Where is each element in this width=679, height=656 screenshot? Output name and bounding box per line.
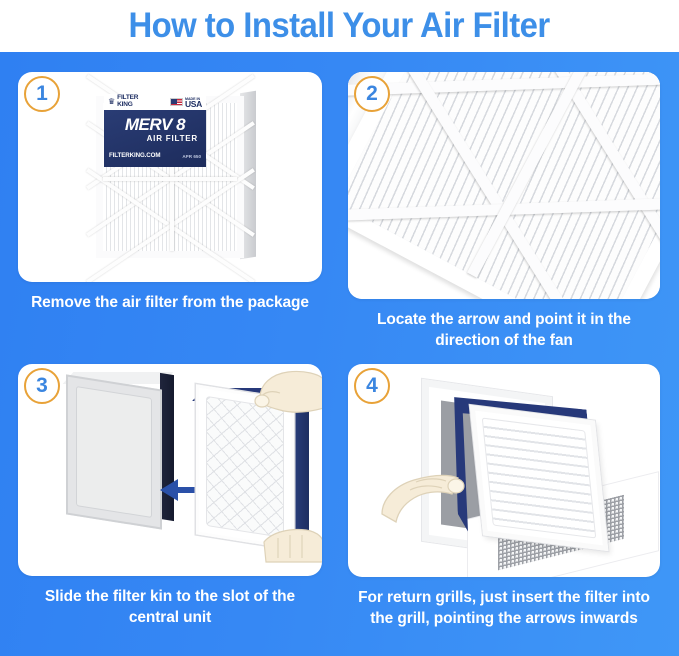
filter-frame (348, 72, 660, 299)
merv-rating: MERV 8 (108, 116, 202, 133)
page-title: How to Install Your Air Filter (129, 6, 550, 46)
hand-icon (380, 460, 472, 526)
brand-website: FILTERKING.COM (109, 152, 160, 159)
step-2-caption: Locate the arrow and point it in the dir… (348, 309, 660, 351)
step-panel-1: 1 (18, 72, 322, 352)
product-label-header: ♛ FILTER KING (104, 94, 206, 110)
step-panel-2: 2 (348, 72, 660, 368)
product-label: ♛ FILTER KING (104, 94, 206, 167)
step-panel-4: 4 (348, 364, 660, 656)
step-panel-3: 3 (18, 364, 322, 654)
country-text: USA (185, 102, 202, 107)
grill-door-louvered (470, 405, 609, 551)
hand-bottom-icon (262, 524, 322, 564)
product-type: AIR FILTER (108, 134, 202, 143)
step-4-card: 4 (348, 364, 660, 577)
air-filter-product-photo: ♛ FILTER KING (96, 88, 256, 266)
step-4-caption: For return grills, just insert the filte… (348, 587, 660, 629)
step-2-card: 2 (348, 72, 660, 299)
us-flag-icon (170, 98, 183, 106)
step-1-card: 1 (18, 72, 322, 282)
apr-rating: APR 650 (182, 154, 201, 159)
insert-filter-into-return-grill-illustration (348, 364, 660, 577)
slide-filter-into-slot-illustration (18, 364, 322, 576)
grill-louvers (482, 418, 597, 539)
made-in-usa-mark: MADE IN USA (170, 97, 202, 107)
product-label-footer: FILTERKING.COM APR 650 (108, 152, 202, 159)
step-3-caption: Slide the filter kin to the slot of the … (18, 586, 322, 628)
steps-grid: 1 (0, 52, 679, 656)
steps-background: 1 (0, 52, 679, 656)
step-1-caption: Remove the air filter from the package (18, 292, 322, 313)
step-3-card: 3 (18, 364, 322, 576)
filter-corner-arrow-photo: AIR FLOW Air Filter AIRFLOW (348, 72, 660, 299)
unit-inner-recess (76, 386, 152, 518)
unit-front-panel (66, 374, 162, 529)
title-band: How to Install Your Air Filter (0, 0, 679, 52)
infographic-page: How to Install Your Air Filter 1 (0, 0, 679, 656)
brand-line-2: KING (117, 101, 132, 108)
step-3-badge: 3 (24, 368, 60, 404)
filter-king-logo: ♛ FILTER KING (108, 95, 138, 108)
step-4-badge: 4 (354, 368, 390, 404)
brand-name: FILTER KING (117, 95, 138, 108)
filter-wire-grid (348, 72, 660, 299)
step-1-badge: 1 (24, 76, 60, 112)
hand-top-icon (254, 368, 322, 420)
crown-icon: ♛ (108, 98, 115, 106)
step-2-badge: 2 (354, 76, 390, 112)
